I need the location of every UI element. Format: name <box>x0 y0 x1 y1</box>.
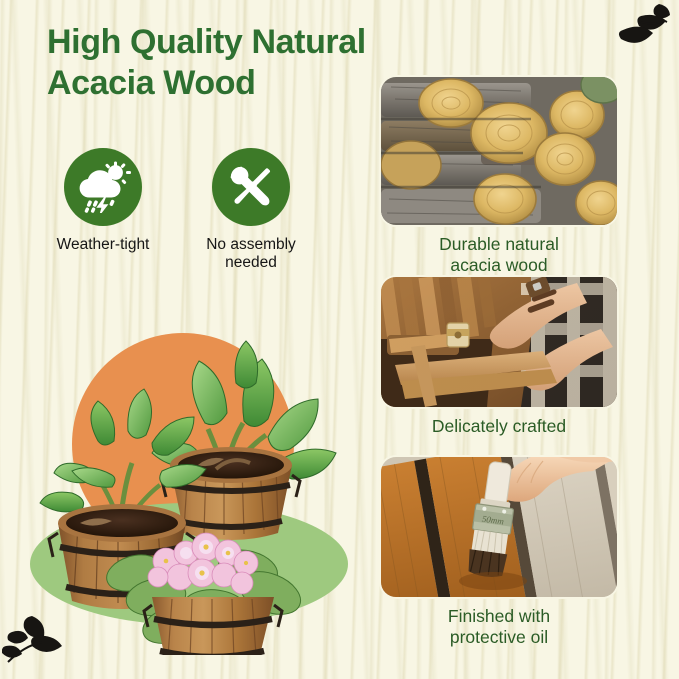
badge-circle <box>64 148 142 226</box>
photo-caption: Finished with protective oil <box>381 606 617 648</box>
hero-product-image <box>20 325 375 655</box>
caption-line-2: acacia wood <box>381 255 617 276</box>
brush-applying-oil-to-deck-photo: 50mm <box>381 457 617 597</box>
caption-line-1: Finished with <box>381 606 617 627</box>
feature-label-line-2: needed <box>192 254 310 272</box>
page-title-line-2: Acacia Wood <box>47 63 377 104</box>
feature-badge-list: Weather-tight <box>44 148 334 273</box>
cloud-sun-rain-lightning-icon <box>75 161 131 213</box>
page-title-line-1: High Quality Natural <box>47 22 377 63</box>
three-wooden-barrel-planters <box>20 325 375 655</box>
caption-line-1: Durable natural <box>381 234 617 255</box>
feature-badge-label: No assembly needed <box>192 236 310 273</box>
page-title: High Quality Natural Acacia Wood <box>47 22 377 105</box>
photo-card-protective-oil: 50mm <box>381 457 617 648</box>
wrench-screwdriver-icon <box>225 161 277 213</box>
feature-badge-no-assembly: No assembly needed <box>192 148 310 273</box>
photo-card-delicately-crafted: Delicately crafted <box>381 277 617 437</box>
photo-caption: Delicately crafted <box>381 416 617 437</box>
feature-badge-label: Weather-tight <box>44 236 162 254</box>
product-infographic: High Quality Natural Acacia Wood <box>0 0 679 679</box>
caption-line-2: protective oil <box>381 627 617 648</box>
caption-line-1: Delicately crafted <box>381 416 617 437</box>
feature-label-line-1: Weather-tight <box>57 236 150 253</box>
stacked-acacia-logs-photo <box>381 77 617 225</box>
leaf-sprig-bottom-left-icon <box>2 610 68 673</box>
photo-card-durable-acacia: Durable natural acacia wood <box>381 77 617 276</box>
leaf-sprig-top-right-icon <box>611 2 671 63</box>
photo-caption: Durable natural acacia wood <box>381 234 617 276</box>
feature-badge-weather-tight: Weather-tight <box>44 148 162 273</box>
badge-circle <box>212 148 290 226</box>
craftsman-measuring-wood-photo <box>381 277 617 407</box>
feature-label-line-1: No assembly <box>192 236 310 254</box>
